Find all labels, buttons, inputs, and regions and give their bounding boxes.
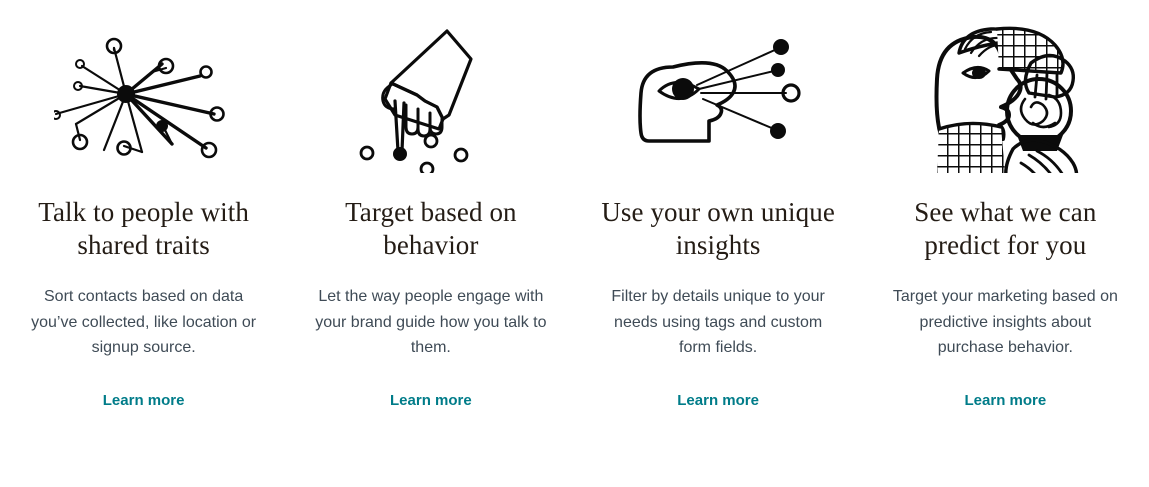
feature-title: Target based on behavior — [305, 196, 556, 262]
feature-title: See what we can predict for you — [880, 196, 1131, 262]
feature-column-2: Target based on behavior Let the way peo… — [287, 0, 574, 411]
face-crystal-ball-illustration — [880, 0, 1131, 196]
pointing-hand-illustration — [305, 0, 556, 196]
feature-description: Target your marketing based on predictiv… — [880, 284, 1131, 361]
learn-more-link[interactable]: Learn more — [965, 391, 1047, 411]
feature-title: Talk to people with shared traits — [18, 196, 269, 262]
learn-more-link[interactable]: Learn more — [390, 391, 472, 411]
head-eye-rays-illustration — [593, 0, 844, 196]
feature-description: Let the way people engage with your bran… — [305, 284, 556, 361]
feature-column-4: See what we can predict for you Target y… — [862, 0, 1149, 411]
feature-column-3: Use your own unique insights Filter by d… — [575, 0, 862, 411]
feature-title: Use your own unique insights — [593, 196, 844, 262]
feature-description: Filter by details unique to your needs u… — [593, 284, 844, 361]
learn-more-link[interactable]: Learn more — [677, 391, 759, 411]
feature-description: Sort contacts based on data you’ve colle… — [18, 284, 269, 361]
feature-columns-grid: Talk to people with shared traits Sort c… — [0, 0, 1149, 487]
learn-more-link[interactable]: Learn more — [103, 391, 185, 411]
network-nodes-illustration — [18, 0, 269, 196]
feature-column-1: Talk to people with shared traits Sort c… — [0, 0, 287, 411]
